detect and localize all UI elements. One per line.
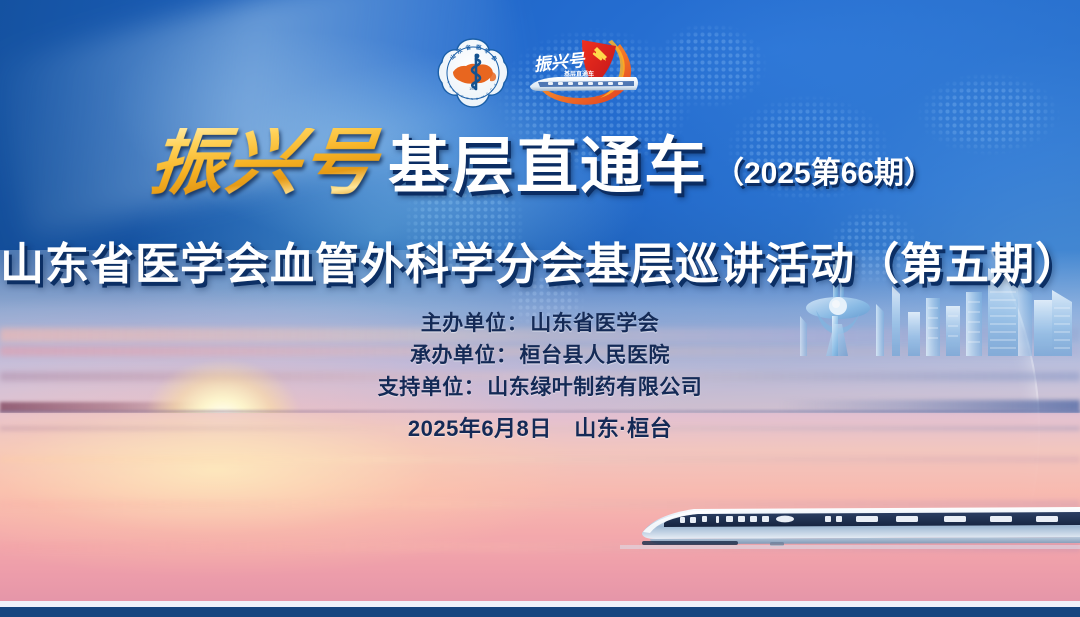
organizer-value: 山东省医学会 xyxy=(530,312,659,335)
event-poster: 山 东 省 医 学 会 S H A N D O N G M xyxy=(0,0,1080,617)
logo-row: 山 东 省 医 学 会 S H A N D O N G M xyxy=(0,36,1080,110)
high-speed-train xyxy=(620,495,1080,555)
organizer-value: 山东绿叶制药有限公司 xyxy=(487,376,702,399)
main-title: 基层直通车 xyxy=(388,136,708,198)
organizer-list: 主办单位：山东省医学会 承办单位：桓台县人民医院 支持单位：山东绿叶制药有限公司 xyxy=(0,308,1080,404)
poster-title: 振兴号 基层直通车 （2025第66期） xyxy=(0,128,1080,198)
poster-subtitle: 山东省医学会血管外科学分会基层巡讲活动（第五期） xyxy=(0,228,1080,292)
date-and-location: 2025年6月8日 山东·桓台 xyxy=(0,411,1080,443)
svg-text:N: N xyxy=(471,97,473,101)
svg-text:基层直通车: 基层直通车 xyxy=(563,70,594,78)
organizer-row: 支持单位：山东绿叶制药有限公司 xyxy=(0,372,1080,404)
svg-text:1936: 1936 xyxy=(469,87,477,91)
zhenxinghao-brand-logo: 振兴号 基层直通车 xyxy=(524,36,644,110)
shandong-medical-association-logo: 山 东 省 医 学 会 S H A N D O N G M xyxy=(436,36,510,110)
organizer-row: 主办单位：山东省医学会 xyxy=(0,308,1080,340)
organizer-row: 承办单位：桓台县人民医院 xyxy=(0,340,1080,372)
issue-number: （2025第66期） xyxy=(714,148,934,198)
organizer-value: 桓台县人民医院 xyxy=(520,344,671,367)
organizer-label: 承办单位： xyxy=(410,344,518,367)
organizer-label: 主办单位： xyxy=(421,312,529,335)
bottom-navy-bar xyxy=(0,607,1080,617)
brand-title-zhenxinghao: 振兴号 xyxy=(142,128,385,198)
organizer-label: 支持单位： xyxy=(378,376,486,399)
